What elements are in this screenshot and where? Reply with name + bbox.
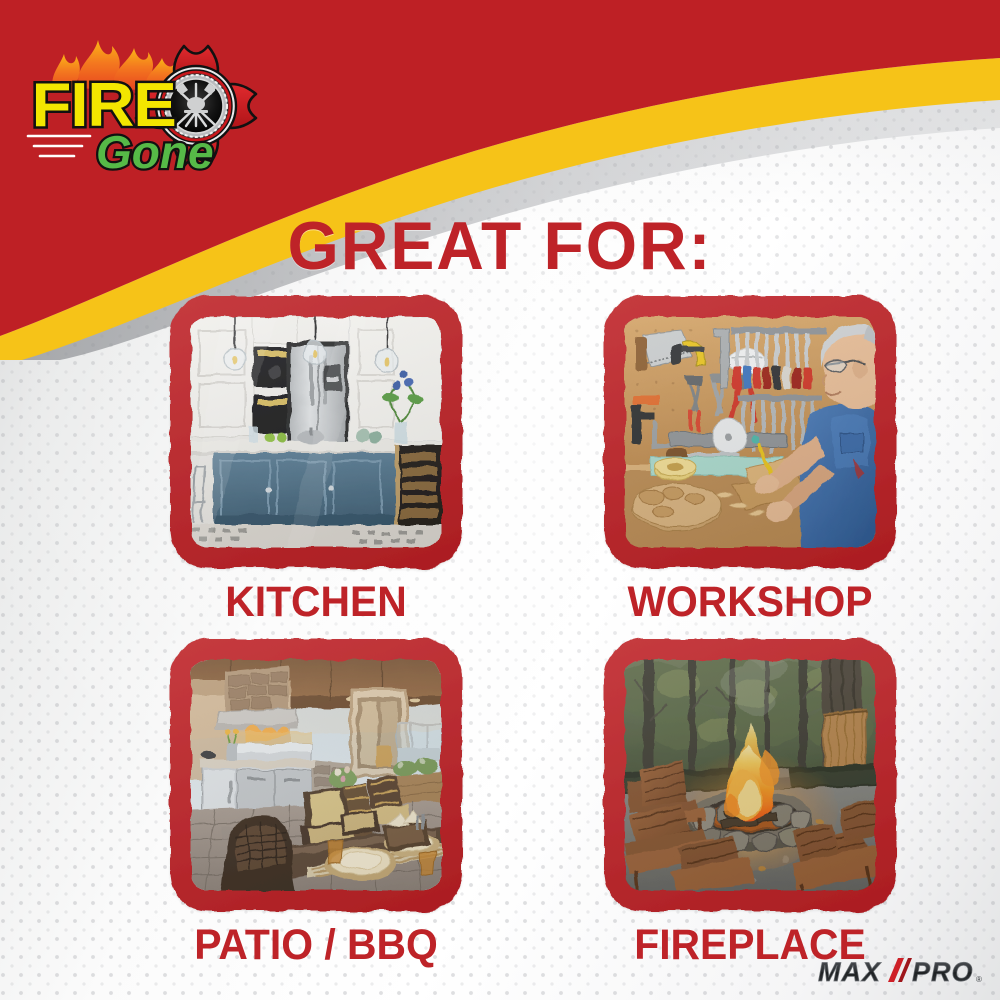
maxpro-registered-mark: ® [976,975,982,984]
maxpro-red-slash-icon [888,958,912,982]
tile-kitchen[interactable]: KITCHEN [170,296,462,625]
workshop-photo [625,317,875,547]
great-for-tile-grid: KITCHEN [0,296,1000,976]
fireplace-photo [625,660,875,890]
tile-label: KITCHEN [177,580,454,625]
kitchen-photo [191,317,441,547]
tile-label: PATIO / BBQ [177,923,454,968]
tile-fireplace[interactable]: FIREPLACE [604,639,896,968]
tile-frame [604,296,896,568]
tile-workshop[interactable]: WORKSHOP [604,296,896,625]
tile-frame [604,639,896,911]
maxpro-word-pro: PRO [912,957,974,987]
fire-gone-logo[interactable]: FIRE Gone [18,18,298,183]
patio-bbq-photo [191,660,441,890]
logo-word-gone: Gone [96,126,214,178]
tile-label: WORKSHOP [611,580,888,625]
maxpro-word-max: MAX [818,957,882,987]
tile-frame [170,639,462,911]
page-title: GREAT FOR: [15,212,985,280]
poster-root: FIRE Gone GREAT FOR: [0,0,1000,1000]
tile-frame [170,296,462,568]
maxpro-logo[interactable]: MAX PRO ® [816,952,986,990]
tile-patio-bbq[interactable]: PATIO / BBQ [170,639,462,968]
